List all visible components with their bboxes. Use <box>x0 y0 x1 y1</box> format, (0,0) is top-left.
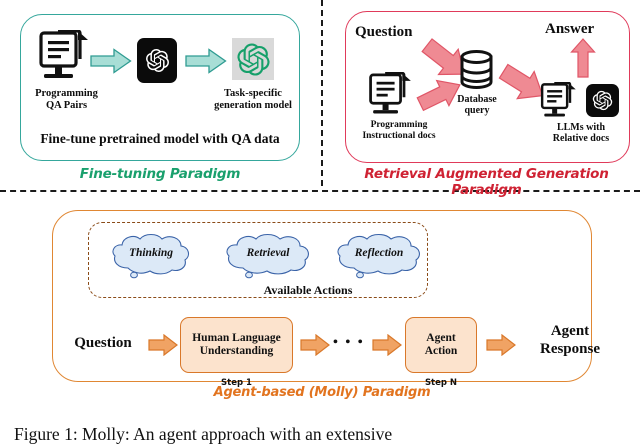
rag-programming-doc-monitor-icon <box>368 72 416 119</box>
action-label-reflection: Reflection <box>333 232 425 280</box>
rag-llm-line2: Relative docs <box>534 133 628 144</box>
arrow-right-orange-4 <box>486 334 516 356</box>
rag-llm-caption: LLMs with Relative docs <box>534 122 628 144</box>
fine-tuning-source-caption: Programming QA Pairs <box>14 88 119 112</box>
action-cloud-reflection[interactable]: Reflection <box>333 232 425 280</box>
flow-box-step-n[interactable]: Agent Action <box>405 317 477 373</box>
rag-llm-doc-monitor-icon <box>540 82 580 121</box>
programming-doc-monitor-icon <box>38 30 94 84</box>
rag-openai-logo-dark-icon <box>586 84 619 117</box>
flow-box-step-n-line1: Agent <box>426 332 455 344</box>
available-actions-label: Available Actions <box>208 284 408 297</box>
rag-answer-label: Answer <box>545 21 635 38</box>
flow-box-step-1[interactable]: Human Language Understanding <box>180 317 293 373</box>
arrow-up-red-to-answer <box>570 38 596 78</box>
agent-output-label: Agent Response <box>520 322 620 359</box>
label-fine-tuning-paradigm: Fine-tuning Paradigm <box>20 166 300 182</box>
fine-tuning-footer: Fine-tune pretrained model with QA data <box>20 131 300 146</box>
arrow-right-teal-1 <box>90 48 132 74</box>
figure-caption: Figure 1: Molly: An agent approach with … <box>14 424 629 445</box>
agent-output-line2: Response <box>520 340 620 358</box>
agent-input-label: Question <box>60 335 146 352</box>
flow-ellipsis: • • • <box>333 335 365 351</box>
action-label-thinking: Thinking <box>108 232 194 280</box>
rag-docs-caption: Programming Instructional docs <box>348 120 450 141</box>
arrow-right-orange-2 <box>300 334 330 356</box>
rag-docs-line1: Programming <box>348 120 450 131</box>
label-agent-paradigm: Agent-based (Molly) Paradigm <box>52 385 592 400</box>
agent-output-line1: Agent <box>520 322 620 340</box>
arrow-right-orange-3 <box>372 334 402 356</box>
openai-logo-green-icon <box>232 38 274 80</box>
arrow-right-orange-1 <box>148 334 178 356</box>
rag-docs-line2: Instructional docs <box>348 131 450 142</box>
openai-logo-dark-icon <box>137 38 177 83</box>
rag-database-line2: query <box>444 105 510 116</box>
rag-llm-line1: LLMs with <box>534 122 628 133</box>
fine-tuning-output-caption: Task-specific generation model <box>198 88 308 112</box>
flow-box-step-n-line2: Action <box>425 345 458 357</box>
flow-box-step-1-line2: Understanding <box>200 345 274 357</box>
arrow-right-teal-2 <box>185 48 227 74</box>
flow-box-step-1-line1: Human Language <box>192 332 281 344</box>
action-cloud-retrieval[interactable]: Retrieval <box>222 232 314 280</box>
action-cloud-thinking[interactable]: Thinking <box>108 232 194 280</box>
database-cylinder-icon <box>459 49 494 95</box>
fine-tuning-output-line2: generation model <box>198 100 308 112</box>
label-rag-paradigm: Retrieval Augmented Generation Paradigm <box>333 166 640 198</box>
figure-molly-paradigms: Programming QA Pairs Task-specific gener… <box>0 0 640 444</box>
action-label-retrieval: Retrieval <box>222 232 314 280</box>
vertical-dashed-divider <box>321 0 323 186</box>
fine-tuning-output-line1: Task-specific <box>198 88 308 100</box>
fine-tuning-source-line1: Programming <box>14 88 119 100</box>
fine-tuning-source-line2: QA Pairs <box>14 100 119 112</box>
